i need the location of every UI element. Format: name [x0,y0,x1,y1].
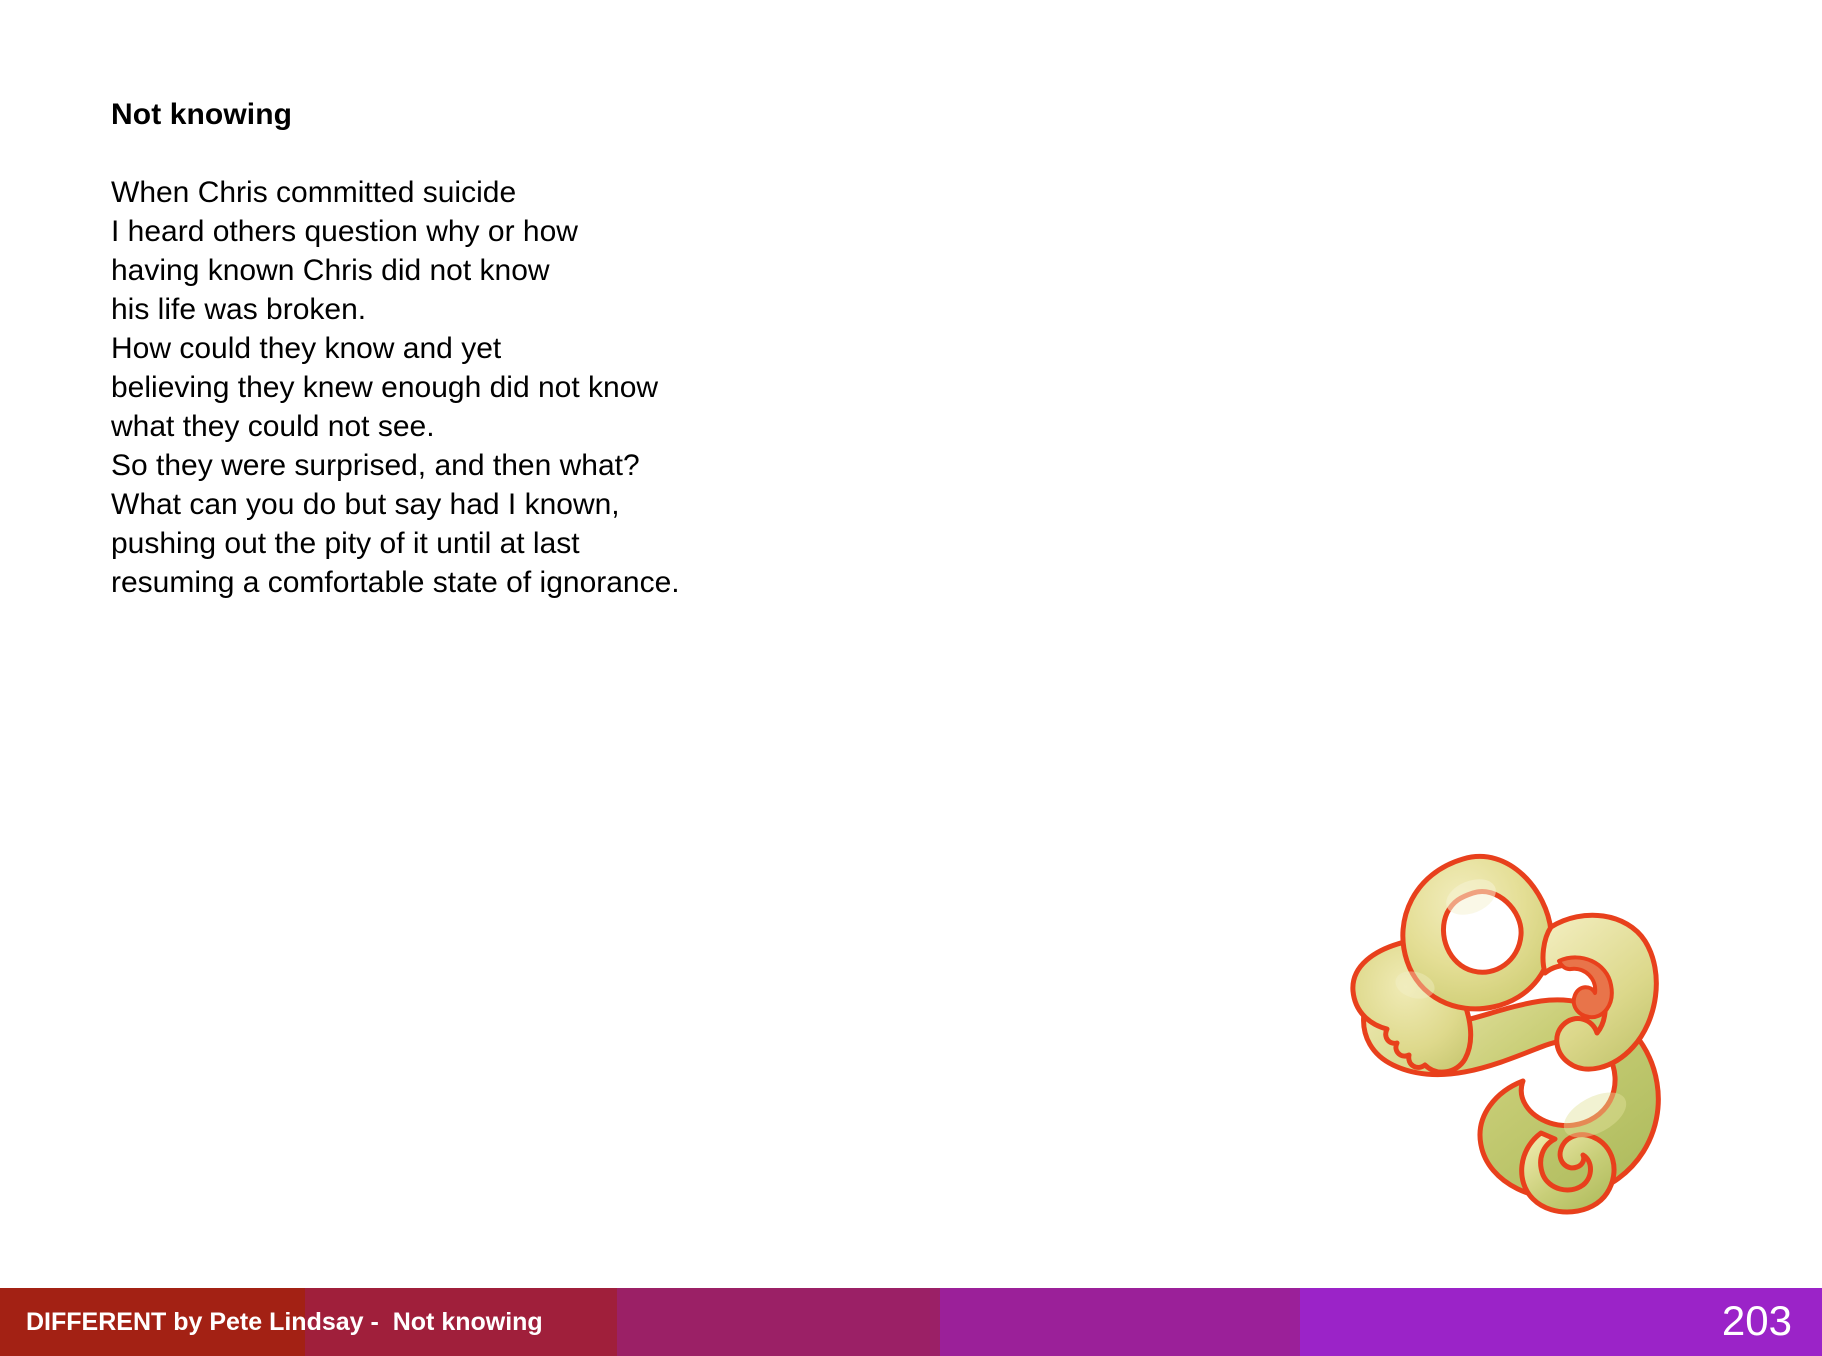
poem-title: Not knowing [111,95,871,134]
band-bright-purple: 203 [1300,1288,1822,1356]
footer-title: DIFFERENT by Pete Lindsay - Not knowing [26,1288,543,1356]
band-magenta [617,1288,940,1356]
poem-line: resuming a comfortable state of ignoranc… [111,563,871,602]
poem-line: When Chris committed suicide [111,173,871,212]
poem-line: his life was broken. [111,290,871,329]
poem-line: So they were surprised, and then what? [111,446,871,485]
poem-line: what they could not see. [111,407,871,446]
poem-block: Not knowing When Chris committed suicide… [111,95,871,602]
band-purple [940,1288,1300,1356]
poem-line: How could they know and yet [111,329,871,368]
artwork-image [1345,815,1700,1215]
poem-line: pushing out the pity of it until at last [111,524,871,563]
poem-line: What can you do but say had I known, [111,485,871,524]
page-number: 203 [1722,1288,1792,1356]
poem-line: having known Chris did not know [111,251,871,290]
slide-canvas: Not knowing When Chris committed suicide… [0,0,1822,1356]
poem-body: When Chris committed suicide I heard oth… [111,173,871,602]
poem-line: believing they knew enough did not know [111,368,871,407]
poem-line: I heard others question why or how [111,212,871,251]
footer-bar: 203 DIFFERENT by Pete Lindsay - Not know… [0,1288,1822,1356]
